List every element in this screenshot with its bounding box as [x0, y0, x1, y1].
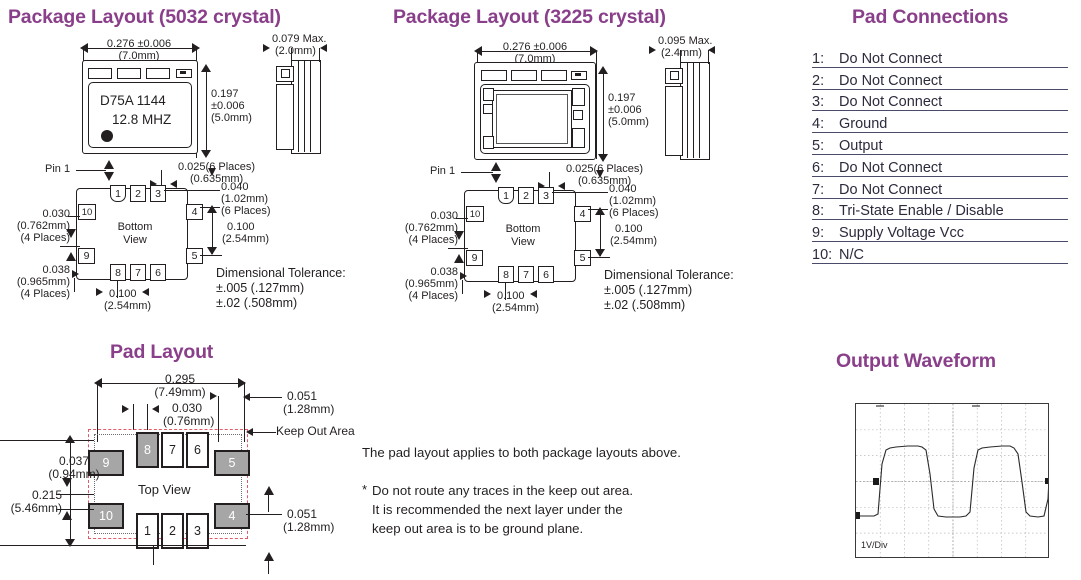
- cavity-corner-bl: [483, 136, 494, 149]
- bv-pad-8: 8: [110, 264, 126, 281]
- ext-pl-pw1: [133, 404, 134, 430]
- pad-num-4: 4:: [812, 116, 839, 132]
- pad-desc-3: Do Not Connect: [839, 94, 942, 110]
- pad-desc-2: Do Not Connect: [839, 73, 942, 89]
- bv-pad-9: 9: [78, 248, 95, 264]
- ext-bp-1-3225: [505, 282, 506, 300]
- ext-pl-pin1-drop: [153, 545, 154, 565]
- dim-corner-places-3225: (4 Places): [388, 290, 458, 302]
- side-line-1: [298, 60, 299, 152]
- arrow-sidepad: [66, 229, 76, 238]
- cavity-corner-br: [572, 128, 585, 148]
- pad-connection-row-5: 5: Output: [812, 133, 1068, 155]
- lead-plpadh-1: [56, 494, 94, 495]
- tolerance-1-5032: ±.005 (.127mm): [216, 281, 304, 296]
- arrow-pl-r2: [210, 392, 217, 400]
- dim-5032-height-in: 0.197: [211, 88, 239, 100]
- arrow-pitch-dn: [207, 247, 217, 255]
- label-pin1-5032: Pin 1: [45, 163, 70, 175]
- bv-pad-7: 7: [130, 264, 146, 281]
- bottom-view-label-1: Bottom: [108, 221, 162, 234]
- bv3225-pad-6: 6: [538, 266, 554, 283]
- pad-desc-9: Supply Voltage Vcc: [839, 225, 964, 241]
- ext-corner-3225: [462, 280, 463, 294]
- arrow-pitch-up-3225: [595, 207, 605, 215]
- dim-pitch-in-3225: 0.100: [615, 223, 643, 235]
- label-pin1-3225: Pin 1: [430, 165, 455, 177]
- terminal-3225-2: [511, 70, 537, 81]
- side-3225-body: [665, 86, 683, 156]
- arrow-pitch-dn-3225: [595, 249, 605, 257]
- dim-arrow-width-3225: [478, 51, 596, 52]
- dim-3225-height-in: 0.197: [608, 92, 636, 104]
- arrow-plh-up: [65, 435, 75, 443]
- bv-pad-3: 3: [150, 185, 166, 202]
- dim-line-height-3225: [603, 72, 604, 160]
- dim-sidepad-places-3225: (4 Places): [388, 234, 458, 246]
- tolerance-2-3225: ±.02 (.508mm): [604, 298, 685, 313]
- ext-pl-top: [0, 440, 94, 441]
- scope-gridlines: [856, 404, 1049, 558]
- side-ext-r: [319, 48, 320, 62]
- heading-pad-layout: Pad Layout: [110, 341, 213, 364]
- pad-connections-list: 1: Do Not Connect 2: Do Not Connect 3: D…: [812, 46, 1068, 264]
- pad-desc-8: Tri-State Enable / Disable: [839, 203, 1004, 219]
- pad-num-8: 8:: [812, 203, 839, 219]
- arrow-pw-r: [170, 180, 177, 188]
- side-3225-l1: [687, 62, 688, 158]
- pad-num-1: 1:: [812, 51, 839, 67]
- ext-pl-pw2: [147, 404, 148, 430]
- pad-num-2: 2:: [812, 73, 839, 89]
- dim-pl-right-in: 0.051: [287, 390, 317, 402]
- lead-pl-right: [248, 397, 282, 398]
- dim-3225-thickness-in: 0.095 Max.: [658, 35, 712, 47]
- pad-connection-row-9: 9: Supply Voltage Vcc: [812, 220, 1068, 242]
- pad-6: 6: [186, 432, 209, 468]
- dim-corner-mm-3225: (0.965mm): [388, 278, 458, 290]
- cavity-corner-tr: [572, 88, 585, 106]
- arrow-up: [201, 64, 211, 72]
- pad-desc-10: N/C: [839, 247, 864, 263]
- arrow-side-r: [320, 44, 327, 52]
- dim-pl-height-mm: (5.46mm): [0, 502, 62, 514]
- arrow-sidepad-3225: [454, 231, 464, 240]
- dim-5032-thickness-mm: (2.0mm): [275, 45, 316, 57]
- pin1-arrow-down: [104, 172, 114, 181]
- dim-corner-places: (4 Places): [0, 288, 70, 300]
- arrow-pl-pw-r: [152, 405, 159, 413]
- note-line-3: It is recommended the next layer under t…: [372, 500, 623, 519]
- note-asterisk: *: [362, 480, 367, 499]
- pad-3: 3: [186, 513, 209, 549]
- pad-desc-1: Do Not Connect: [839, 51, 942, 67]
- dim-padwidth-in-3225: 0.025(6 Places): [566, 163, 643, 175]
- lead-sidepad2: [60, 246, 80, 247]
- marking-line-1: D75A 1144: [100, 93, 166, 108]
- side-3225-ext-r: [708, 50, 709, 64]
- heading-package-3225: Package Layout (3225 crystal): [393, 6, 666, 29]
- tolerance-title-5032: Dimensional Tolerance:: [216, 266, 346, 281]
- dim-line-height: [206, 70, 207, 156]
- dim-pl-width-mm: (7.49mm): [120, 386, 240, 398]
- arrow-down: [201, 150, 211, 158]
- bv3225-pad-10: 10: [466, 206, 484, 222]
- arrow-corner-3225: [454, 254, 464, 263]
- dim-padlen-places-3225: (6 Places): [609, 207, 659, 219]
- dim-corner-in: 0.038: [0, 264, 70, 276]
- dim-line-pl-width: [98, 383, 244, 384]
- lead-sidepad-3225: [456, 218, 468, 219]
- ext-line-r-3225: [596, 51, 597, 159]
- datasheet-page: Package Layout (5032 crystal) Package La…: [0, 0, 1081, 580]
- bv3225-pad-7: 7: [518, 266, 534, 283]
- dim-pl-bottom-in: 0.051: [287, 508, 317, 520]
- dim-padlen-places: (6 Places): [221, 205, 271, 217]
- arrow-keepout: [246, 428, 253, 436]
- dim-pl-padw-in: 0.030: [172, 402, 202, 414]
- dim-pl-right-mm: (1.28mm): [283, 403, 334, 415]
- side-3225-ext-l: [680, 50, 681, 64]
- arrow-bp-l-3225: [484, 290, 491, 298]
- arrow-plpadh-dn: [62, 478, 72, 487]
- dim-sidepad-mm-3225: (0.762mm): [388, 222, 458, 234]
- dim-5032-height-mm: (5.0mm): [211, 112, 252, 124]
- terminal-2: [117, 68, 141, 79]
- dim-arrow-width: [84, 48, 196, 49]
- bv-pad-2: 2: [130, 185, 146, 202]
- dim-pl-padw-mm: (0.76mm): [163, 415, 214, 427]
- pad-num-3: 3:: [812, 94, 839, 110]
- bv-pad-1: 1: [110, 185, 126, 202]
- pad-connection-row-4: 4: Ground: [812, 111, 1068, 133]
- lead-pitch-bot-3225: [588, 257, 610, 258]
- dim-pitch-mm: (2.54mm): [222, 233, 269, 245]
- dim-sidepad-in: 0.030: [0, 208, 70, 220]
- dim-pl-padh-mm: (0.94mm): [38, 468, 110, 480]
- terminal-3: [146, 68, 170, 79]
- cavity-tab-l1: [483, 104, 493, 114]
- terminal-3225-4-mark: [575, 73, 581, 76]
- pin1-arrow-dn-3225: [491, 174, 501, 183]
- lead-pitch-bot: [200, 255, 222, 256]
- dim-pl-height-in: 0.215: [0, 489, 62, 501]
- side-line-3: [310, 60, 311, 152]
- pad-4: 4: [214, 503, 250, 529]
- side-body: [276, 84, 294, 150]
- pad-connection-row-1: 1: Do Not Connect: [812, 46, 1068, 68]
- pad-num-7: 7:: [812, 182, 839, 198]
- note-line-4: keep out area is to be ground plane.: [372, 519, 583, 538]
- pad-num-5: 5:: [812, 138, 839, 154]
- dim-corner-mm: (0.965mm): [0, 276, 70, 288]
- arrow-side-l-3225: [649, 46, 656, 54]
- marking-line-2: 12.8 MHZ: [112, 112, 171, 127]
- dim-pitch-in: 0.100: [227, 221, 255, 233]
- arrow-down-3225: [598, 154, 608, 162]
- pad-connection-row-3: 3: Do Not Connect: [812, 90, 1068, 112]
- pad-num-6: 6:: [812, 160, 839, 176]
- arrow-pl-right: [243, 393, 250, 401]
- dim-botpitch-mm-3225: (2.54mm): [492, 302, 539, 314]
- pad-10: 10: [88, 503, 124, 529]
- pad-desc-6: Do Not Connect: [839, 160, 942, 176]
- dim-3225-height-mm: (5.0mm): [608, 116, 649, 128]
- dim-padwidth-in: 0.025(6 Places): [178, 161, 255, 173]
- arrow-padlen-3225: [596, 170, 604, 178]
- bv-pad-6: 6: [150, 264, 166, 281]
- scope-marker-right: [1045, 478, 1049, 484]
- dim-padlen-in: 0.040: [221, 181, 249, 193]
- scope-marker-ch1: [873, 478, 879, 485]
- pin1-arrow-up: [104, 160, 114, 169]
- cavity-tab-r1: [573, 110, 583, 120]
- pin1-leader-3225: [461, 172, 493, 173]
- side-3225-l3: [699, 62, 700, 158]
- dim-corner-in-3225: 0.038: [388, 266, 458, 278]
- heading-pad-connections: Pad Connections: [852, 6, 1008, 29]
- arrow-pl-pw-l: [122, 405, 129, 413]
- pin-1-dot-marker: [101, 130, 113, 142]
- dim-pl-padh-in: 0.037: [38, 455, 110, 467]
- dim-sidepad-mm: (0.762mm): [0, 220, 70, 232]
- dim-5032-thickness-in: 0.079 Max.: [272, 33, 326, 45]
- bv-pad-10: 10: [78, 204, 96, 220]
- pad-desc-5: Output: [839, 138, 883, 154]
- side-3225-l2: [693, 62, 694, 158]
- pin1-arrow-up-3225: [491, 162, 501, 171]
- package-3225-side-profile: [680, 62, 710, 160]
- label-keep-out-area: Keep Out Area: [276, 425, 355, 437]
- tolerance-2-5032: ±.02 (.508mm): [216, 296, 297, 311]
- terminal-3225-1: [481, 70, 507, 81]
- terminal-1: [88, 68, 112, 79]
- heading-output-waveform: Output Waveform: [836, 350, 996, 373]
- heading-package-5032: Package Layout (5032 crystal): [8, 6, 281, 29]
- pad-desc-7: Do Not Connect: [839, 182, 942, 198]
- lead-plpadh-2: [56, 509, 94, 510]
- bottom-view-3225-label-1: Bottom: [496, 223, 550, 236]
- dim-3225-thickness-mm: (2.4mm): [661, 47, 702, 59]
- lead-keepout: [252, 432, 276, 433]
- pad-2: 2: [161, 513, 184, 549]
- arrow-bp-l: [96, 288, 103, 296]
- ext-plbot: [268, 494, 269, 512]
- dim-padlen-in-3225: 0.040: [609, 183, 637, 195]
- note-line-2: Do not route any traces in the keep out …: [372, 481, 633, 500]
- pad-num-10: 10:: [812, 247, 839, 263]
- dim-3225-height-tol: ±0.006: [608, 104, 642, 116]
- bottom-view-3225-label-2: View: [496, 236, 550, 249]
- arrow-side-l: [263, 44, 270, 52]
- pad-connection-row-10: 10: N/C: [812, 242, 1068, 264]
- crystal-die-inner: [496, 94, 568, 144]
- package-5032-side-profile: [291, 60, 321, 154]
- terminal-3225-3: [541, 70, 567, 81]
- dim-padlen-mm-3225: (1.02mm): [609, 195, 656, 207]
- oscilloscope-display: 1V/Div: [855, 403, 1049, 558]
- dim-5032-height-tol: ±0.006: [211, 100, 245, 112]
- label-top-view: Top View: [138, 482, 191, 497]
- lead-padlen-top-3225: [552, 192, 608, 193]
- tolerance-title-3225: Dimensional Tolerance:: [604, 268, 734, 283]
- lead-sidepad: [68, 216, 80, 217]
- side-line-2: [304, 60, 305, 152]
- pad-8: 8: [136, 432, 159, 468]
- side-ext-l: [291, 48, 292, 62]
- arrow-padlen: [208, 168, 216, 176]
- ext-plbot2: [268, 560, 269, 574]
- lead-pl-bottom: [246, 514, 282, 515]
- dim-sidepad-places: (4 Places): [0, 232, 70, 244]
- tolerance-1-3225: ±.005 (.127mm): [604, 283, 692, 298]
- dim-botpitch-in-3225: 0.100: [497, 290, 525, 302]
- terminal-4-mark: [180, 71, 186, 74]
- scope-marker-left: [856, 512, 860, 519]
- bottom-view-label-2: View: [108, 234, 162, 247]
- dim-botpitch-in: 0.100: [109, 288, 137, 300]
- arrow-corner: [66, 252, 76, 261]
- pin1-leader: [76, 170, 106, 171]
- dim-sidepad-in-3225: 0.030: [388, 210, 458, 222]
- dim-padlen-mm: (1.02mm): [221, 193, 268, 205]
- ext-corner: [74, 278, 75, 292]
- pad-connection-row-6: 6: Do Not Connect: [812, 155, 1068, 177]
- arrow-pw-r-3225: [558, 182, 565, 190]
- bv3225-pad-8: 8: [498, 266, 514, 283]
- side-tab-inner: [281, 69, 290, 78]
- ext-bp-1: [117, 280, 118, 298]
- side-3225-tab-in: [670, 71, 679, 80]
- dim-pitch-mm-3225: (2.54mm): [610, 235, 657, 247]
- arrow-plpadh-up: [62, 511, 72, 520]
- arrow-bp-r: [142, 288, 149, 296]
- arrow-corner-2-3225: [460, 272, 467, 280]
- pad-5: 5: [214, 450, 250, 476]
- pad-desc-4: Ground: [839, 116, 887, 132]
- lead-sidepad2-3225: [448, 248, 468, 249]
- arrow-corner-2: [72, 270, 79, 278]
- scope-scale-label: 1V/Div: [861, 540, 888, 550]
- pad-1: 1: [136, 513, 159, 549]
- arrow-up-3225: [598, 66, 608, 74]
- pad-num-9: 9:: [812, 225, 839, 241]
- dim-pl-bottom-mm: (1.28mm): [283, 521, 334, 533]
- cavity-corner-tl: [483, 88, 494, 101]
- bv3225-pad-1: 1: [498, 187, 514, 204]
- scope-svg: [856, 404, 1049, 558]
- ext-pl-bottom: [0, 545, 246, 546]
- dim-botpitch-mm: (2.54mm): [104, 300, 151, 312]
- pad-connection-row-8: 8: Tri-State Enable / Disable: [812, 199, 1068, 221]
- note-line-1: The pad layout applies to both package l…: [362, 443, 681, 462]
- bv3225-pad-3: 3: [538, 187, 554, 204]
- arrow-pitch-up: [207, 205, 217, 213]
- bv3225-pad-2: 2: [518, 187, 534, 204]
- bv3225-pad-9: 9: [466, 250, 483, 266]
- pad-7: 7: [161, 432, 184, 468]
- pad-connection-row-2: 2: Do Not Connect: [812, 68, 1068, 90]
- arrow-bp-r-3225: [530, 290, 537, 298]
- lead-padlen-top: [164, 190, 220, 191]
- pad-connection-row-7: 7: Do Not Connect: [812, 177, 1068, 199]
